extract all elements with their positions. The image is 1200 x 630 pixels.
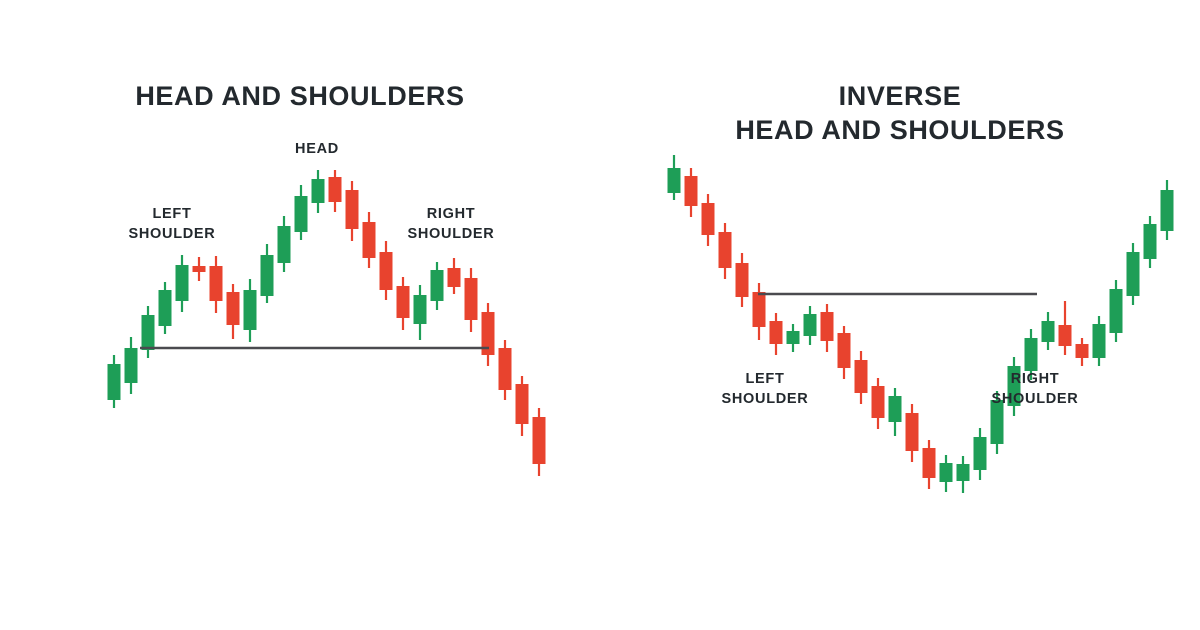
candle-body — [736, 263, 749, 297]
candlestick — [940, 455, 953, 492]
candlestick — [1042, 312, 1055, 350]
candlestick — [397, 277, 410, 330]
candle-body — [906, 413, 919, 451]
candlestick — [872, 378, 885, 429]
candle-body — [227, 292, 240, 325]
candlestick — [193, 257, 206, 281]
candlestick — [736, 253, 749, 307]
candlestick — [668, 155, 681, 200]
candle-body — [380, 252, 393, 290]
candle-body — [278, 226, 291, 263]
candlestick — [1161, 180, 1174, 240]
candlestick — [261, 244, 274, 303]
candlestick — [1110, 280, 1123, 342]
candle-body — [770, 321, 783, 344]
candlestick — [753, 283, 766, 340]
left-shoulder-label: LEFT SHOULDER — [129, 205, 216, 244]
candlestick — [295, 185, 308, 240]
candlestick — [142, 306, 155, 358]
candle-body — [855, 360, 868, 393]
candlestick — [787, 324, 800, 352]
candle-body — [957, 464, 970, 481]
candle-body — [668, 168, 681, 193]
candle-body — [210, 266, 223, 301]
candlestick — [855, 351, 868, 404]
candlestick — [719, 223, 732, 279]
candle-body — [719, 232, 732, 268]
candle-body — [414, 295, 427, 324]
candlestick — [431, 262, 444, 310]
candle-body — [685, 176, 698, 206]
candlestick — [1076, 338, 1089, 366]
candle-body — [363, 222, 376, 258]
candlestick-chart-inverse-head-and-shoulders — [600, 0, 1200, 630]
candle-body — [193, 266, 206, 272]
candle-body — [702, 203, 715, 235]
candlestick — [227, 284, 240, 339]
candlestick — [838, 326, 851, 379]
candlestick — [499, 340, 512, 400]
candle-body — [312, 179, 325, 203]
candle-body — [431, 270, 444, 301]
candle-body — [397, 286, 410, 318]
candlestick — [380, 241, 393, 300]
candlestick — [465, 268, 478, 332]
candle-body — [329, 177, 342, 202]
candlestick — [448, 258, 461, 294]
candle-body — [516, 384, 529, 424]
candle-body — [872, 386, 885, 418]
candlestick — [159, 282, 172, 334]
candle-body — [1059, 325, 1072, 346]
candle-body — [176, 265, 189, 301]
candlestick — [1144, 216, 1157, 268]
candle-body — [940, 463, 953, 482]
candle-body — [1093, 324, 1106, 358]
candlestick — [1127, 243, 1140, 305]
candle-body — [804, 314, 817, 336]
candlestick — [278, 216, 291, 272]
candlestick — [346, 181, 359, 241]
right-shoulder-label: RIGHT SHOULDER — [408, 205, 495, 244]
candlestick — [804, 306, 817, 345]
right-shoulder-label: RIGHT SHOULDER — [992, 370, 1079, 409]
candlestick — [974, 428, 987, 480]
candle-body — [244, 290, 257, 330]
candle-body — [261, 255, 274, 296]
candlestick — [770, 313, 783, 355]
candle-body — [1076, 344, 1089, 358]
candlestick — [1093, 316, 1106, 366]
candle-body — [821, 312, 834, 341]
chart-panel-head-and-shoulders: HEAD AND SHOULDERS HEADLEFT SHOULDERRIGH… — [0, 0, 600, 630]
candle-body — [889, 396, 902, 422]
candlestick — [821, 304, 834, 352]
candle-body — [159, 290, 172, 326]
candlestick — [923, 440, 936, 489]
candle-body — [753, 292, 766, 327]
candle-body — [1042, 321, 1055, 342]
candle-body — [1127, 252, 1140, 296]
chart-panel-inverse-head-and-shoulders: INVERSE HEAD AND SHOULDERS LEFT SHOULDER… — [600, 0, 1200, 630]
candlestick — [533, 408, 546, 476]
head-label: HEAD — [295, 140, 339, 160]
candlestick — [312, 170, 325, 213]
candle-body — [533, 417, 546, 464]
candlestick — [702, 194, 715, 246]
candlestick — [210, 256, 223, 313]
candlestick-chart-head-and-shoulders — [0, 0, 600, 630]
candle-body — [346, 190, 359, 229]
candle-body — [108, 364, 121, 400]
candlestick — [516, 376, 529, 436]
candlestick — [414, 285, 427, 340]
candlestick — [176, 255, 189, 312]
candle-body — [1110, 289, 1123, 333]
left-shoulder-label: LEFT SHOULDER — [722, 370, 809, 409]
candle-body — [142, 315, 155, 350]
candlestick — [1059, 301, 1072, 355]
candle-body — [787, 331, 800, 344]
candlestick — [906, 404, 919, 462]
candlestick — [125, 337, 138, 394]
candlestick — [329, 170, 342, 212]
candle-body — [465, 278, 478, 320]
candlestick — [363, 212, 376, 268]
candle-body — [499, 348, 512, 390]
candlestick — [244, 279, 257, 342]
candle-body — [1025, 338, 1038, 371]
candlestick — [685, 168, 698, 217]
candle-body — [125, 348, 138, 383]
candle-body — [295, 196, 308, 232]
candle-body — [1144, 224, 1157, 259]
diagram-canvas: HEAD AND SHOULDERS HEADLEFT SHOULDERRIGH… — [0, 0, 1200, 630]
candle-body — [448, 268, 461, 287]
candle-body — [1161, 190, 1174, 231]
candlestick — [889, 388, 902, 436]
candlestick — [108, 355, 121, 408]
candlestick — [957, 456, 970, 493]
candle-body — [923, 448, 936, 478]
candle-body — [838, 333, 851, 368]
candlestick — [482, 303, 495, 366]
candle-body — [974, 437, 987, 470]
